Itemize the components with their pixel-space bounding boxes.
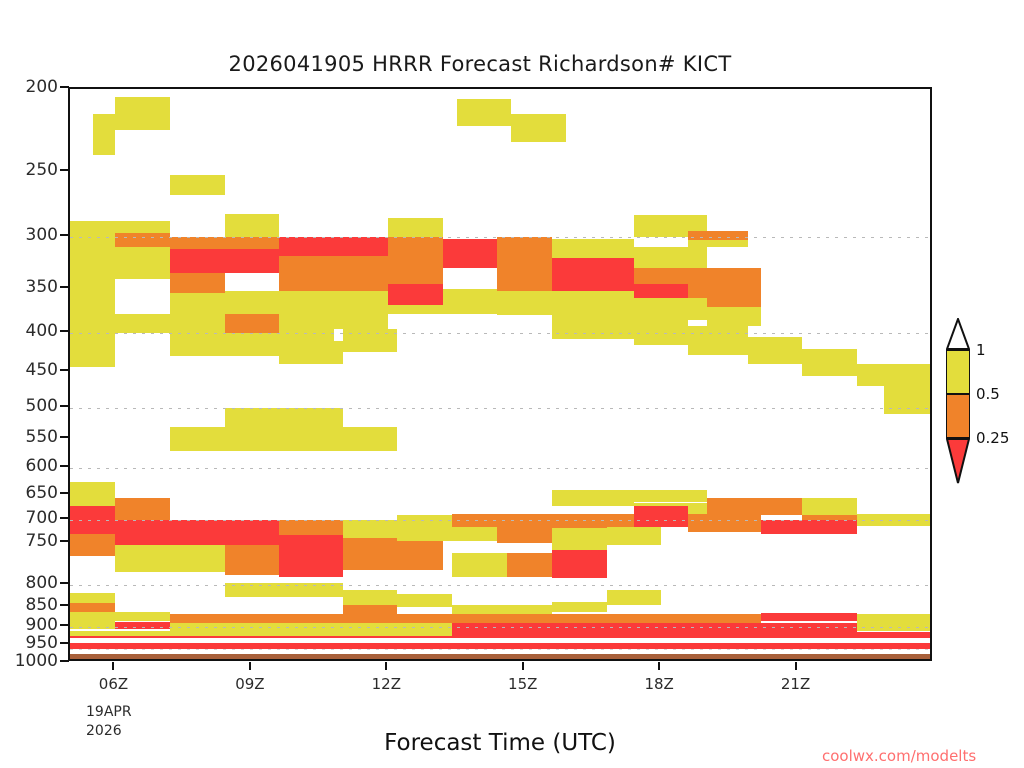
- y-axis-tick-mark: [60, 169, 69, 171]
- y-axis-tick-mark: [60, 492, 69, 494]
- y-axis-tick-label: 550: [0, 427, 58, 447]
- heatmap-cell: [497, 291, 633, 316]
- x-axis-tick-mark: [249, 662, 251, 670]
- y-axis-tick-label: 850: [0, 595, 58, 615]
- heatmap-cell: [634, 490, 707, 503]
- gridline: [70, 520, 930, 521]
- heatmap-cell: [343, 538, 443, 569]
- heatmap-cell: [884, 386, 932, 414]
- y-axis-tick-mark: [60, 517, 69, 519]
- heatmap-cell: [70, 263, 115, 311]
- y-axis-tick-mark: [60, 465, 69, 467]
- heatmap-cell: [634, 506, 689, 527]
- colorbar-under-arrow: [946, 438, 970, 484]
- heatmap-cell: [279, 520, 343, 535]
- chart-canvas: 2026041905 HRRR Forecast Richardson# KIC…: [0, 0, 1024, 768]
- heatmap-cell: [388, 237, 443, 279]
- y-axis-tick-label: 750: [0, 531, 58, 551]
- y-axis-tick-mark: [60, 369, 69, 371]
- heatmap-cell: [552, 614, 761, 623]
- heatmap-cell: [552, 315, 634, 339]
- heatmap-cell: [115, 233, 170, 247]
- heatmap-cell: [225, 214, 280, 237]
- heatmap-cell: [607, 590, 662, 605]
- heatmap-cell: [170, 175, 225, 196]
- y-axis-tick-label: 350: [0, 277, 58, 297]
- x-axis-tick-mark: [112, 662, 114, 670]
- x-axis-tick-mark: [658, 662, 660, 670]
- heatmap-cell: [225, 314, 280, 333]
- heatmap-cell: [457, 99, 512, 126]
- heatmap-cell: [552, 239, 634, 258]
- heatmap-cell: [70, 311, 115, 367]
- heatmap-cell: [688, 326, 747, 355]
- y-axis-tick-mark: [60, 286, 69, 288]
- y-axis-tick-mark: [60, 604, 69, 606]
- x-axis-tick-label: 21Z: [781, 675, 810, 693]
- y-axis-tick-label: 200: [0, 77, 58, 97]
- gridline: [70, 468, 930, 469]
- heatmap-cell: [857, 614, 932, 622]
- y-axis-tick-label: 700: [0, 508, 58, 528]
- heatmap-cell: [70, 612, 170, 621]
- plot-area[interactable]: [68, 87, 932, 661]
- x-axis-tick-label: 09Z: [235, 675, 264, 693]
- heatmap-cell: [70, 631, 452, 636]
- colorbar-tick-label: 0.25: [976, 429, 1009, 447]
- y-axis-tick-label: 950: [0, 633, 58, 653]
- heatmap-cell: [443, 239, 498, 268]
- y-axis-tick-mark: [60, 642, 69, 644]
- y-axis-tick-label: 400: [0, 321, 58, 341]
- gridline: [70, 585, 930, 586]
- heatmap-cell: [688, 514, 761, 532]
- y-axis-tick-mark: [60, 86, 69, 88]
- gridline: [70, 408, 930, 409]
- heatmap-cell: [761, 613, 856, 621]
- heatmap-cell: [115, 545, 224, 573]
- y-axis-tick-mark: [60, 405, 69, 407]
- heatmap-cell: [497, 237, 552, 260]
- gridline: [70, 237, 930, 238]
- heatmap-cell: [707, 268, 762, 306]
- x-axis-tick-mark: [522, 662, 524, 670]
- y-axis-tick-label: 250: [0, 160, 58, 180]
- heatmap-cell: [802, 349, 857, 376]
- heatmap-cell: [707, 307, 762, 326]
- y-axis-tick-mark: [60, 582, 69, 584]
- heatmap-cell: [334, 314, 389, 329]
- heatmap-cell: [343, 605, 398, 614]
- x-axis-tick-label: 12Z: [372, 675, 401, 693]
- colorbar-tick-label: 1: [976, 341, 986, 359]
- y-axis-tick-mark: [60, 330, 69, 332]
- colorbar-over-arrow: [946, 318, 970, 350]
- heatmap-cell: [552, 490, 634, 506]
- heatmap-cell: [452, 553, 507, 577]
- heatmap-cell: [388, 218, 443, 238]
- x-axis-date-line-1: 19APR: [86, 703, 132, 722]
- heatmap-cell: [279, 237, 388, 256]
- watermark: coolwx.com/modelts: [822, 747, 976, 765]
- heatmap-cell: [443, 289, 498, 314]
- heatmap-cell: [511, 114, 566, 142]
- y-axis-tick-label: 900: [0, 615, 58, 635]
- heatmap-cell: [93, 114, 116, 156]
- heatmap-cells: [70, 89, 930, 659]
- heatmap-cell: [115, 247, 170, 278]
- heatmap-cell: [688, 231, 747, 241]
- heatmap-cell: [70, 534, 115, 556]
- y-axis-tick-label: 800: [0, 573, 58, 593]
- heatmap-cell: [115, 498, 170, 521]
- heatmap-cell: [397, 594, 452, 607]
- heatmap-cell: [607, 527, 662, 545]
- gridline: [70, 627, 930, 628]
- heatmap-cell: [170, 333, 279, 356]
- heatmap-cell: [115, 97, 170, 130]
- y-axis-tick-mark: [60, 540, 69, 542]
- x-axis-tick-mark: [385, 662, 387, 670]
- heatmap-cell: [748, 337, 803, 364]
- heatmap-cell: [388, 284, 443, 305]
- y-axis-tick-label: 300: [0, 225, 58, 245]
- y-axis-tick-label: 600: [0, 456, 58, 476]
- heatmap-cell: [70, 593, 115, 603]
- heatmap-cell: [707, 498, 802, 516]
- heatmap-cell: [452, 614, 552, 623]
- heatmap-cell: [688, 240, 747, 247]
- y-axis-tick-mark: [60, 436, 69, 438]
- y-axis-tick-mark: [60, 234, 69, 236]
- terrain-gridline: [70, 649, 930, 650]
- heatmap-cell: [170, 614, 452, 623]
- x-axis-tick-mark: [795, 662, 797, 670]
- heatmap-cell: [497, 527, 552, 543]
- heatmap-cell: [343, 520, 398, 538]
- gridline: [70, 333, 930, 334]
- heatmap-cell: [70, 603, 115, 612]
- x-axis-title: Forecast Time (UTC): [68, 730, 932, 756]
- terrain-band: [70, 654, 930, 661]
- heatmap-cell: [279, 256, 388, 291]
- heatmap-cell: [225, 545, 280, 575]
- heatmap-cell: [279, 314, 334, 341]
- y-axis-tick-label: 450: [0, 360, 58, 380]
- heatmap-cell: [552, 258, 634, 291]
- heatmap-cell: [70, 221, 115, 263]
- heatmap-cell: [279, 341, 343, 364]
- heatmap-cell: [115, 221, 170, 233]
- heatmap-cell: [552, 528, 607, 551]
- heatmap-cell: [170, 249, 279, 273]
- y-axis-tick-mark: [60, 624, 69, 626]
- heatmap-cell: [761, 520, 856, 534]
- heatmap-cell: [115, 314, 224, 333]
- y-axis-tick-label: 1000: [0, 651, 58, 671]
- heatmap-cell: [802, 498, 857, 516]
- heatmap-cell: [170, 293, 225, 313]
- heatmap-cell: [634, 247, 707, 268]
- heatmap-cell: [170, 427, 397, 451]
- heatmap-cell: [507, 553, 552, 577]
- colorbar-segment: [946, 394, 970, 438]
- colorbar-tick-label: 0.5: [976, 385, 1000, 403]
- y-axis-tick-label: 500: [0, 396, 58, 416]
- heatmap-cell: [279, 535, 343, 577]
- heatmap-cell: [343, 590, 398, 605]
- colorbar-segment: [946, 350, 970, 394]
- heatmap-cell: [634, 298, 707, 320]
- x-axis-tick-label: 06Z: [99, 675, 128, 693]
- heatmap-cell: [552, 602, 607, 612]
- x-axis-tick-label: 15Z: [508, 675, 537, 693]
- y-axis-tick-mark: [60, 660, 69, 662]
- heatmap-cell: [857, 364, 932, 386]
- heatmap-cell: [170, 273, 225, 293]
- y-axis-tick-label: 650: [0, 483, 58, 503]
- heatmap-cell: [552, 550, 607, 579]
- heatmap-cell: [70, 482, 115, 507]
- x-axis-tick-label: 18Z: [644, 675, 673, 693]
- page-title: 2026041905 HRRR Forecast Richardson# KIC…: [0, 52, 960, 76]
- heatmap-cell: [452, 605, 552, 614]
